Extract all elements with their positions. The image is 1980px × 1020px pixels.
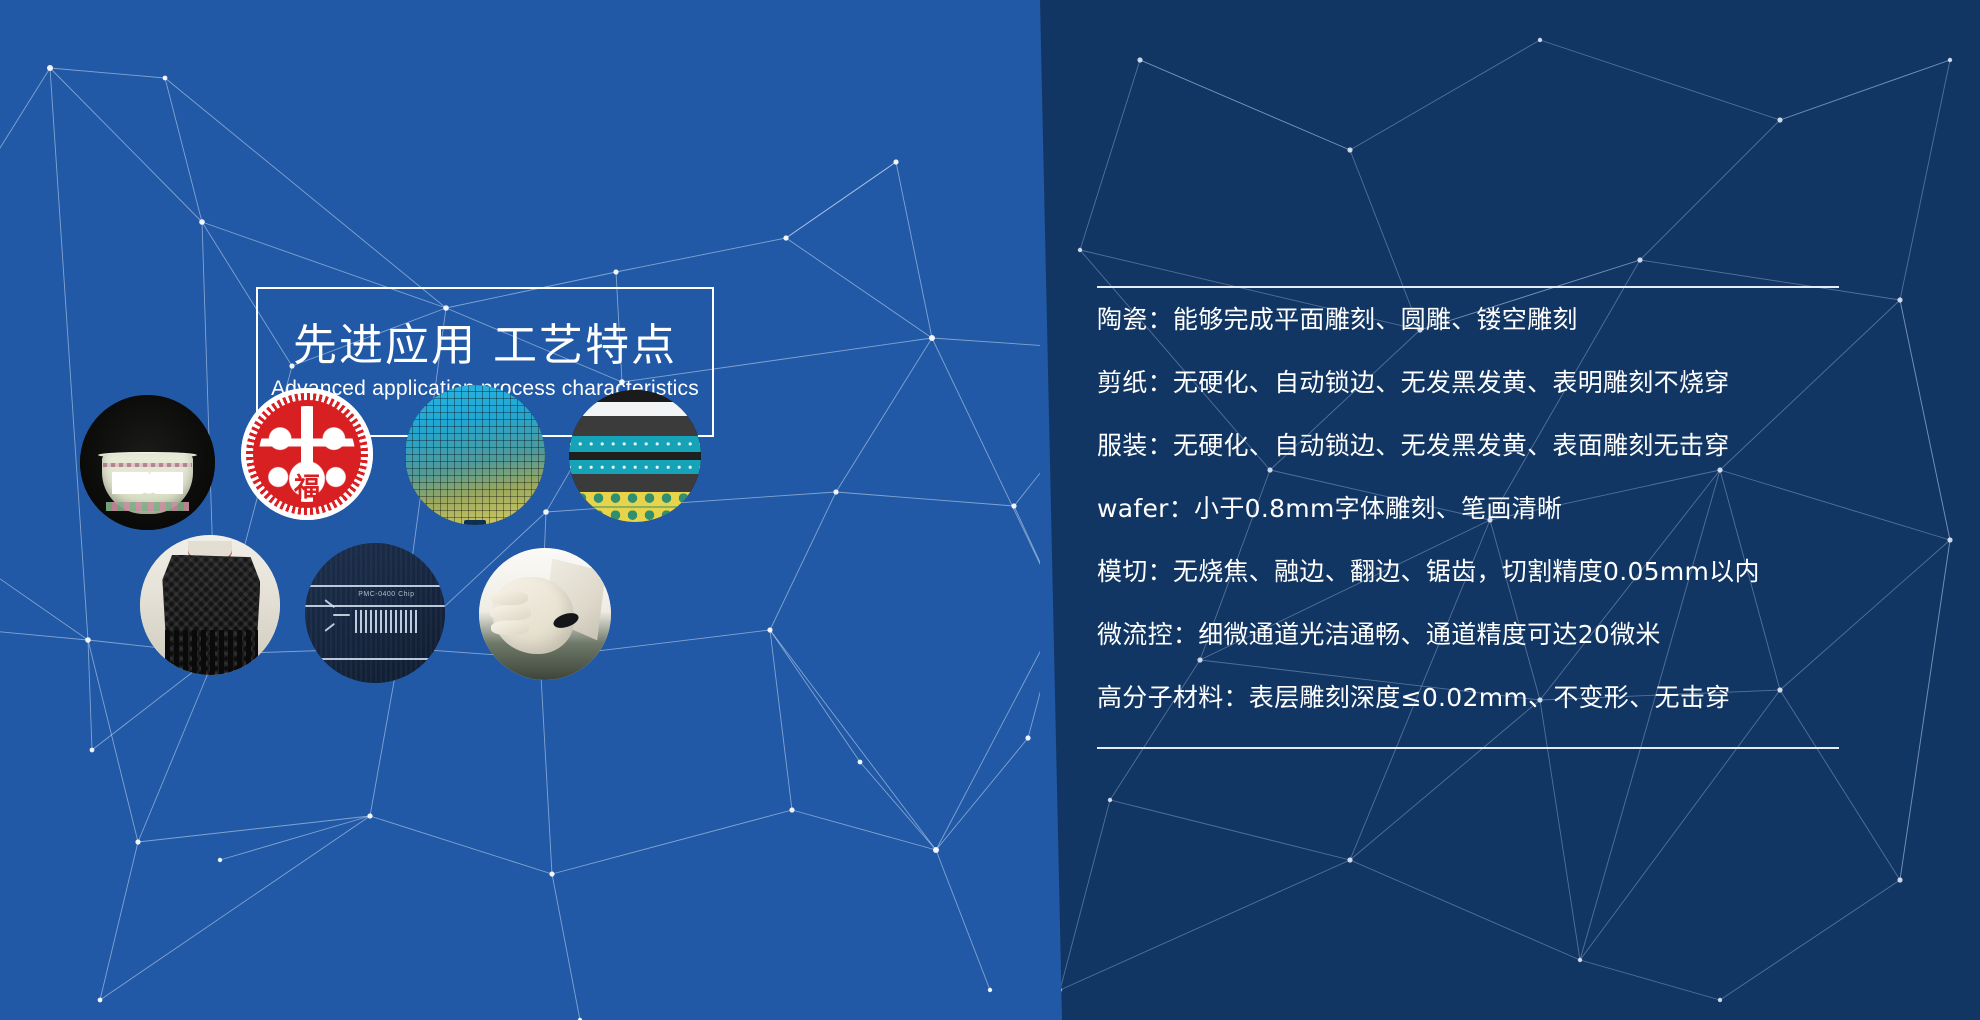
- film-band-dark-2: [569, 452, 701, 460]
- feature-item-apparel: 服装：无硬化、自动锁边、无发黑发黄、表面雕刻无击穿: [1097, 414, 1897, 477]
- feature-item-papercut: 剪纸：无硬化、自动锁边、无发黑发黄、表明雕刻不烧穿: [1097, 351, 1897, 414]
- feature-list-panel: 陶瓷：能够完成平面雕刻、圆雕、镂空雕刻 剪纸：无硬化、自动锁边、无发黑发黄、表明…: [1097, 286, 1897, 749]
- film-band-teal-1: [569, 436, 701, 452]
- feature-list-bottom-rule: [1097, 747, 1839, 749]
- wafer-notch: [464, 520, 486, 525]
- die-cut-film-thumbnail[interactable]: [569, 390, 701, 522]
- feature-item-die-cut: 模切：无烧焦、融边、翻边、锯齿，切割精度0.05mm以内: [1097, 540, 1897, 603]
- bowl-carved-motif: [112, 472, 182, 494]
- thumbnail-gallery: 福: [0, 380, 760, 710]
- film-band-dark-3: [569, 474, 701, 491]
- polymer-material-thumbnail[interactable]: [479, 548, 611, 680]
- wafer-die-grid: [405, 385, 545, 525]
- papercut-fu-glyph: 福: [294, 475, 320, 501]
- microfluidic-y-junction: [325, 599, 350, 630]
- film-backdrop: [569, 390, 701, 522]
- page-title: 先进应用 工艺特点: [293, 323, 677, 369]
- film-band-yellow-cells: [569, 493, 701, 522]
- microfluidic-chip-thumbnail[interactable]: PMC-0400 Chip: [305, 543, 445, 683]
- film-band-white: [569, 390, 701, 402]
- feature-list: 陶瓷：能够完成平面雕刻、圆雕、镂空雕刻 剪纸：无硬化、自动锁边、无发黑发黄、表明…: [1097, 288, 1897, 729]
- bowl-upper-band: [103, 463, 192, 467]
- papercut-thumbnail[interactable]: 福: [241, 388, 373, 520]
- bowl-lower-band: [106, 502, 190, 511]
- film-band-perforated-top: [569, 402, 701, 417]
- film-band-teal-2: [569, 460, 701, 475]
- ceramic-bowl-thumbnail[interactable]: [80, 395, 215, 530]
- gloved-fingers: [490, 588, 543, 646]
- film-band-dark-1: [569, 416, 701, 436]
- slide-canvas: 先进应用 工艺特点 Advanced application process c…: [0, 0, 1980, 1020]
- microfluidic-channel-bottom: [305, 658, 445, 660]
- microfluidic-chip-label: PMC-0400 Chip: [358, 591, 414, 598]
- garment-fringe: [165, 630, 257, 675]
- apparel-fabric-thumbnail[interactable]: [140, 535, 280, 675]
- feature-item-polymer: 高分子材料：表层雕刻深度≤0.02mm、不变形、无击穿: [1097, 666, 1897, 729]
- feature-item-wafer: wafer：小于0.8mm字体雕刻、笔画清晰: [1097, 477, 1897, 540]
- microfluidic-comb-array: [355, 610, 417, 632]
- feature-item-microfluidic: 微流控：细微通道光洁通畅、通道精度可达20微米: [1097, 603, 1897, 666]
- microfluidic-channel-top: [305, 585, 445, 587]
- silicon-wafer-thumbnail[interactable]: [405, 385, 545, 525]
- feature-item-ceramic: 陶瓷：能够完成平面雕刻、圆雕、镂空雕刻: [1097, 288, 1897, 351]
